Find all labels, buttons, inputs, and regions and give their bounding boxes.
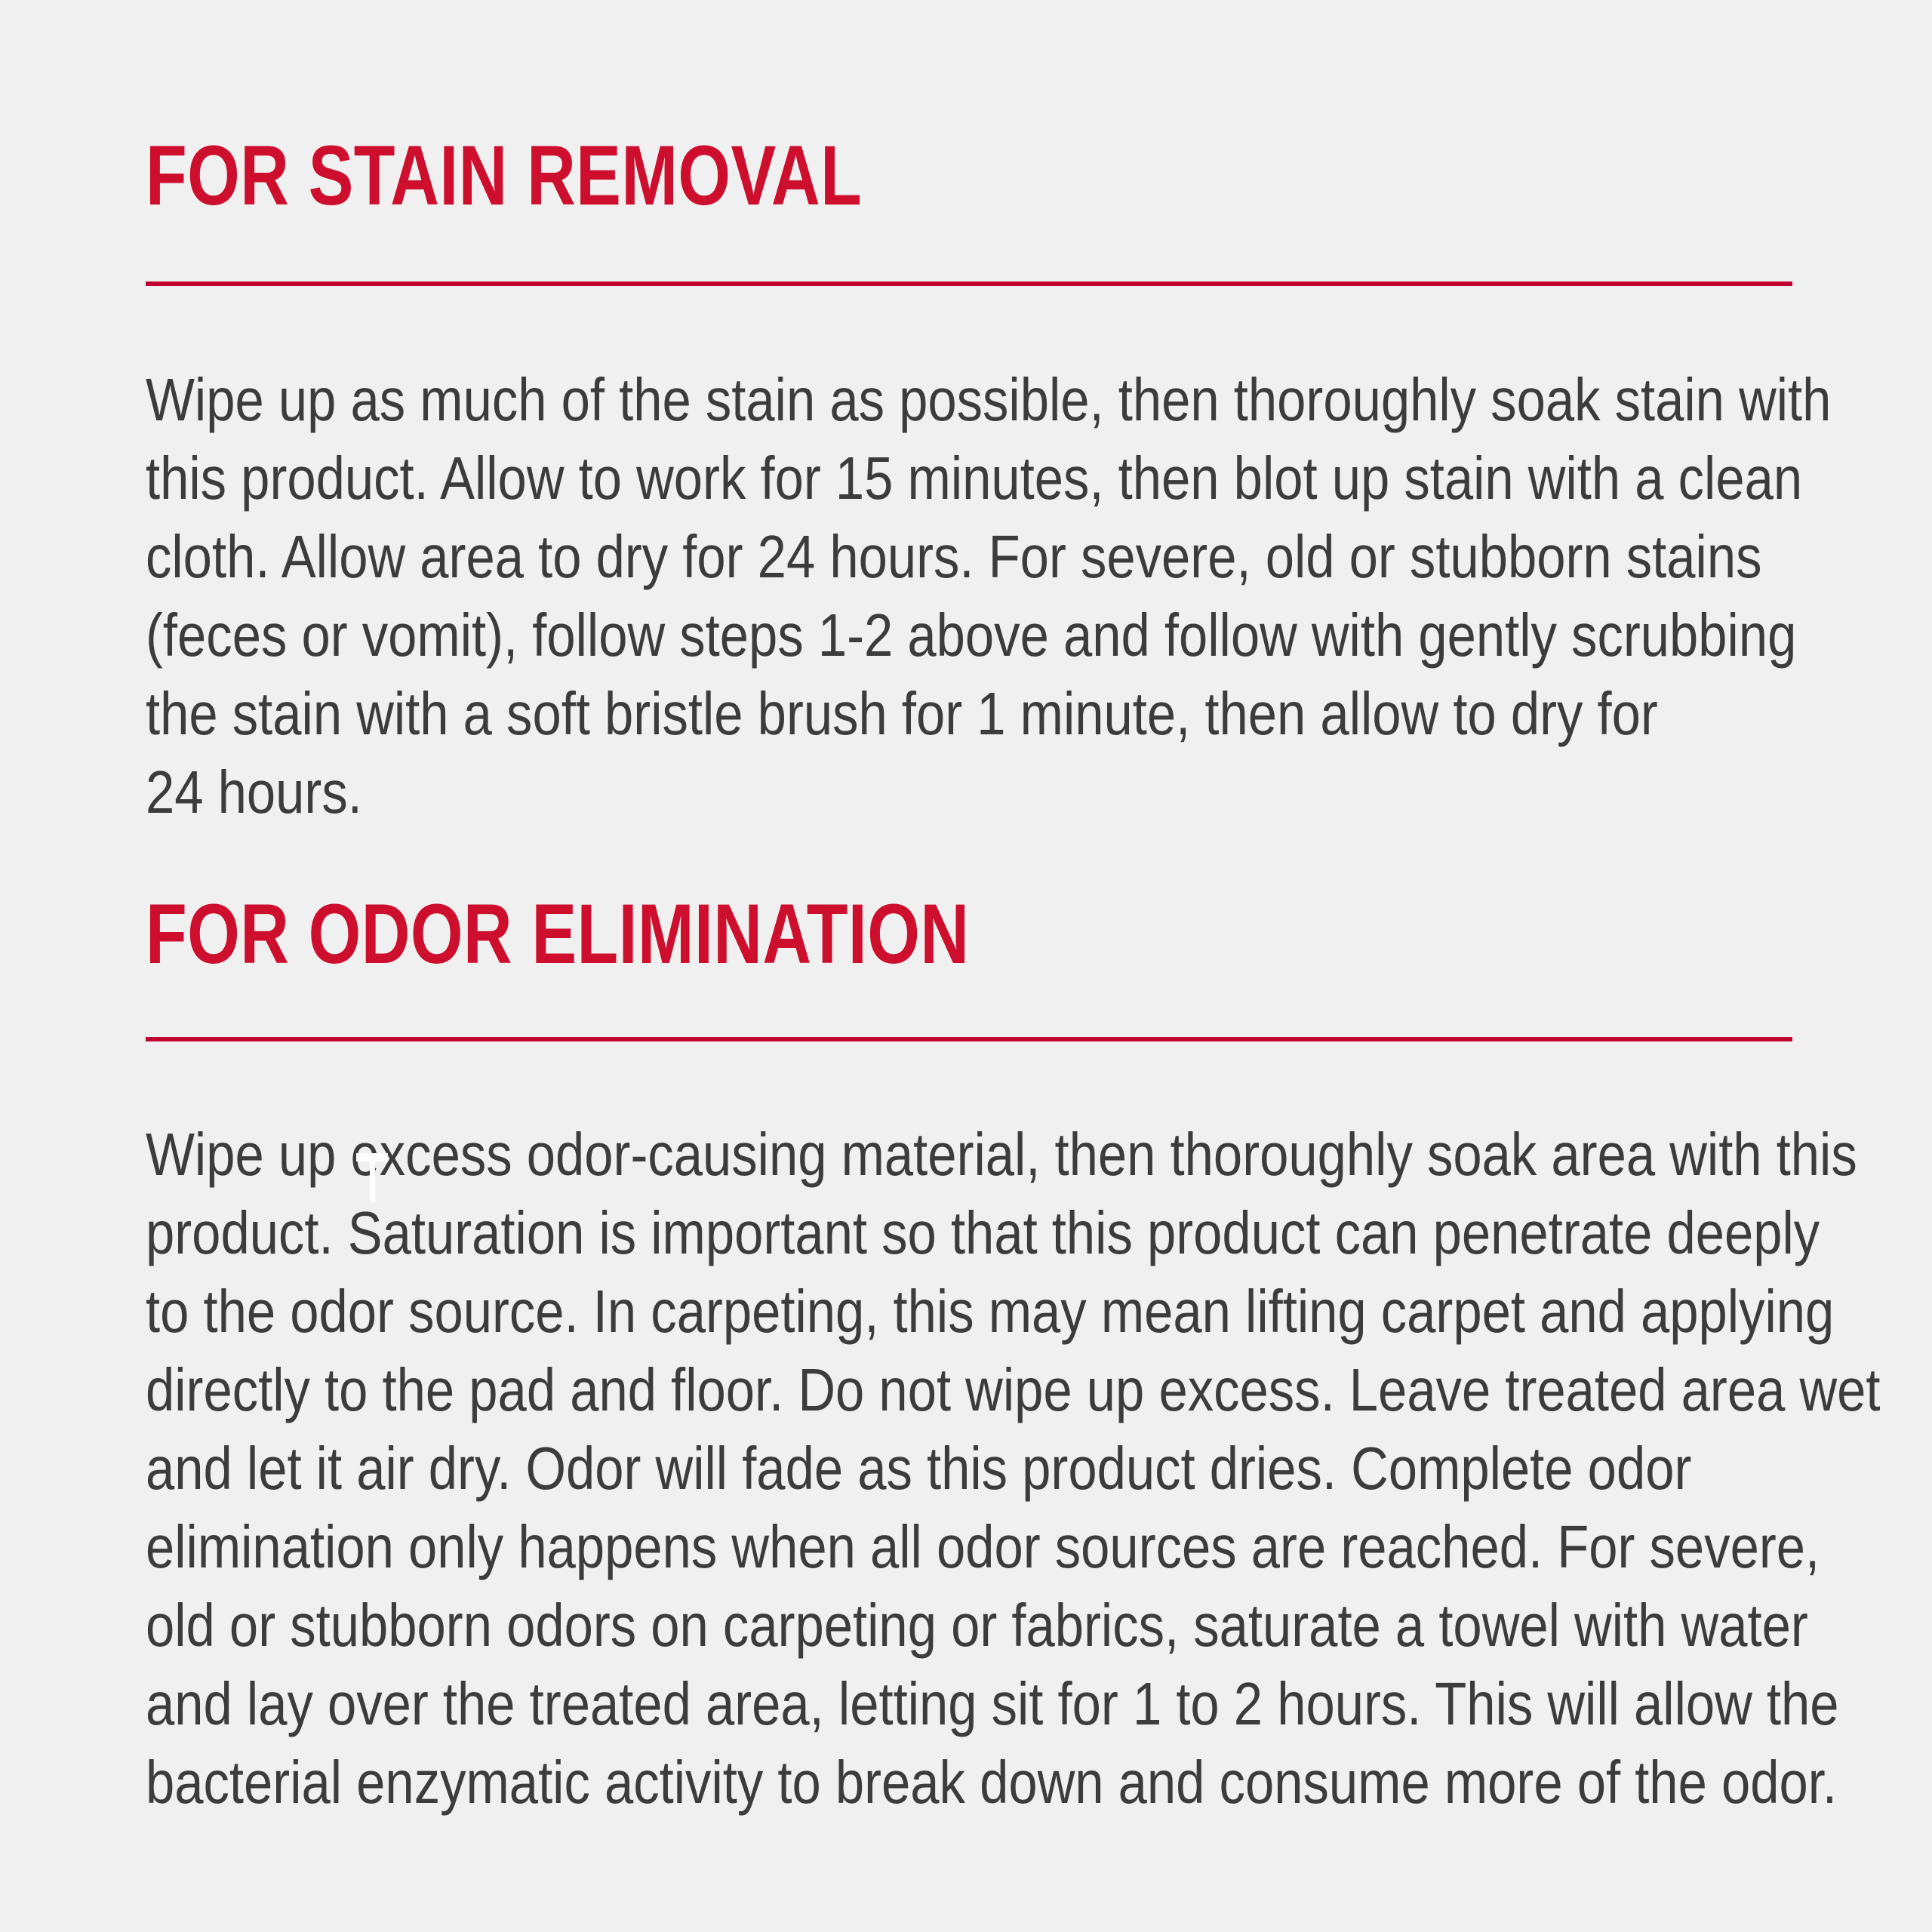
section-heading-stain-removal: FOR STAIN REMOVAL: [146, 140, 1463, 212]
body-line: product. Saturation is important so that…: [146, 1194, 1791, 1272]
body-line: and lay over the treated area, letting s…: [146, 1665, 1791, 1743]
section-heading-odor-elimination: FOR ODOR ELIMINATION: [146, 898, 1463, 971]
body-line: bacterial enzymatic activity to break do…: [146, 1743, 1791, 1822]
body-line: directly to the pad and floor. Do not wi…: [146, 1351, 1791, 1429]
body-line: Wipe up as much of the stain as possible…: [146, 361, 1791, 439]
body-line: and let it air dry. Odor will fade as th…: [146, 1429, 1791, 1508]
body-line: 24 hours.: [146, 753, 1791, 832]
body-line: to the odor source. In carpeting, this m…: [146, 1272, 1791, 1351]
body-line: this product. Allow to work for 15 minut…: [146, 439, 1791, 518]
section-divider-stain-removal: [146, 281, 1792, 286]
instructions-panel: FOR STAIN REMOVAL Wipe up as much of the…: [0, 0, 1932, 1932]
section-divider-odor-elimination: [146, 1037, 1792, 1041]
section-body-stain-removal: Wipe up as much of the stain as possible…: [146, 361, 1791, 832]
body-line: Wipe up excess odor-causing material, th…: [146, 1115, 1791, 1194]
body-line: (feces or vomit), follow steps 1-2 above…: [146, 596, 1791, 675]
body-line: the stain with a soft bristle brush for …: [146, 675, 1791, 753]
body-line: cloth. Allow area to dry for 24 hours. F…: [146, 518, 1791, 596]
section-body-odor-elimination: Wipe up excess odor-causing material, th…: [146, 1115, 1791, 1822]
body-line: old or stubborn odors on carpeting or fa…: [146, 1586, 1791, 1665]
body-line: elimination only happens when all odor s…: [146, 1508, 1791, 1586]
